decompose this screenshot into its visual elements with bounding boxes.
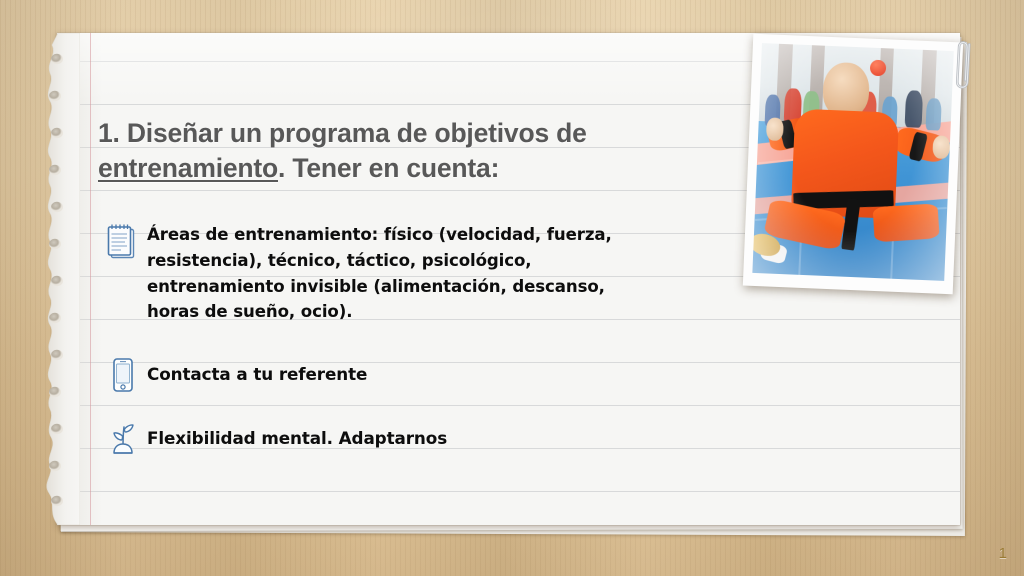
photo-card: [743, 34, 963, 295]
paperclip-icon: [948, 35, 977, 100]
sprout-icon: [108, 420, 138, 458]
martial-arts-photo: [752, 43, 953, 281]
smartphone-icon: [108, 356, 138, 394]
title-line-1: 1. Diseñar un programa de objetivos de: [98, 118, 587, 148]
bullet-item-contact-referent: Contacta a tu referente: [108, 356, 528, 394]
photo-frame: [743, 34, 963, 295]
page-number: 1: [999, 545, 1007, 562]
notepad-icon: [104, 222, 138, 262]
bullet-item-mental-flexibility: Flexibilidad mental. Adaptarnos: [108, 420, 538, 458]
slide-title: 1. Diseñar un programa de objetivos de e…: [98, 116, 698, 186]
bullet-item-training-areas: Áreas de entrenamiento: físico (velocida…: [104, 222, 704, 325]
bullet-text: Flexibilidad mental. Adaptarnos: [147, 426, 447, 452]
bullet-text: Áreas de entrenamiento: físico (velocida…: [147, 222, 612, 325]
torn-spiral-edge: [40, 33, 80, 525]
bullet-text: Contacta a tu referente: [147, 362, 367, 388]
title-underlined-word: entrenamiento: [98, 153, 278, 183]
title-line-2: . Tener en cuenta:: [278, 153, 499, 183]
margin-rule-line: [90, 33, 91, 525]
